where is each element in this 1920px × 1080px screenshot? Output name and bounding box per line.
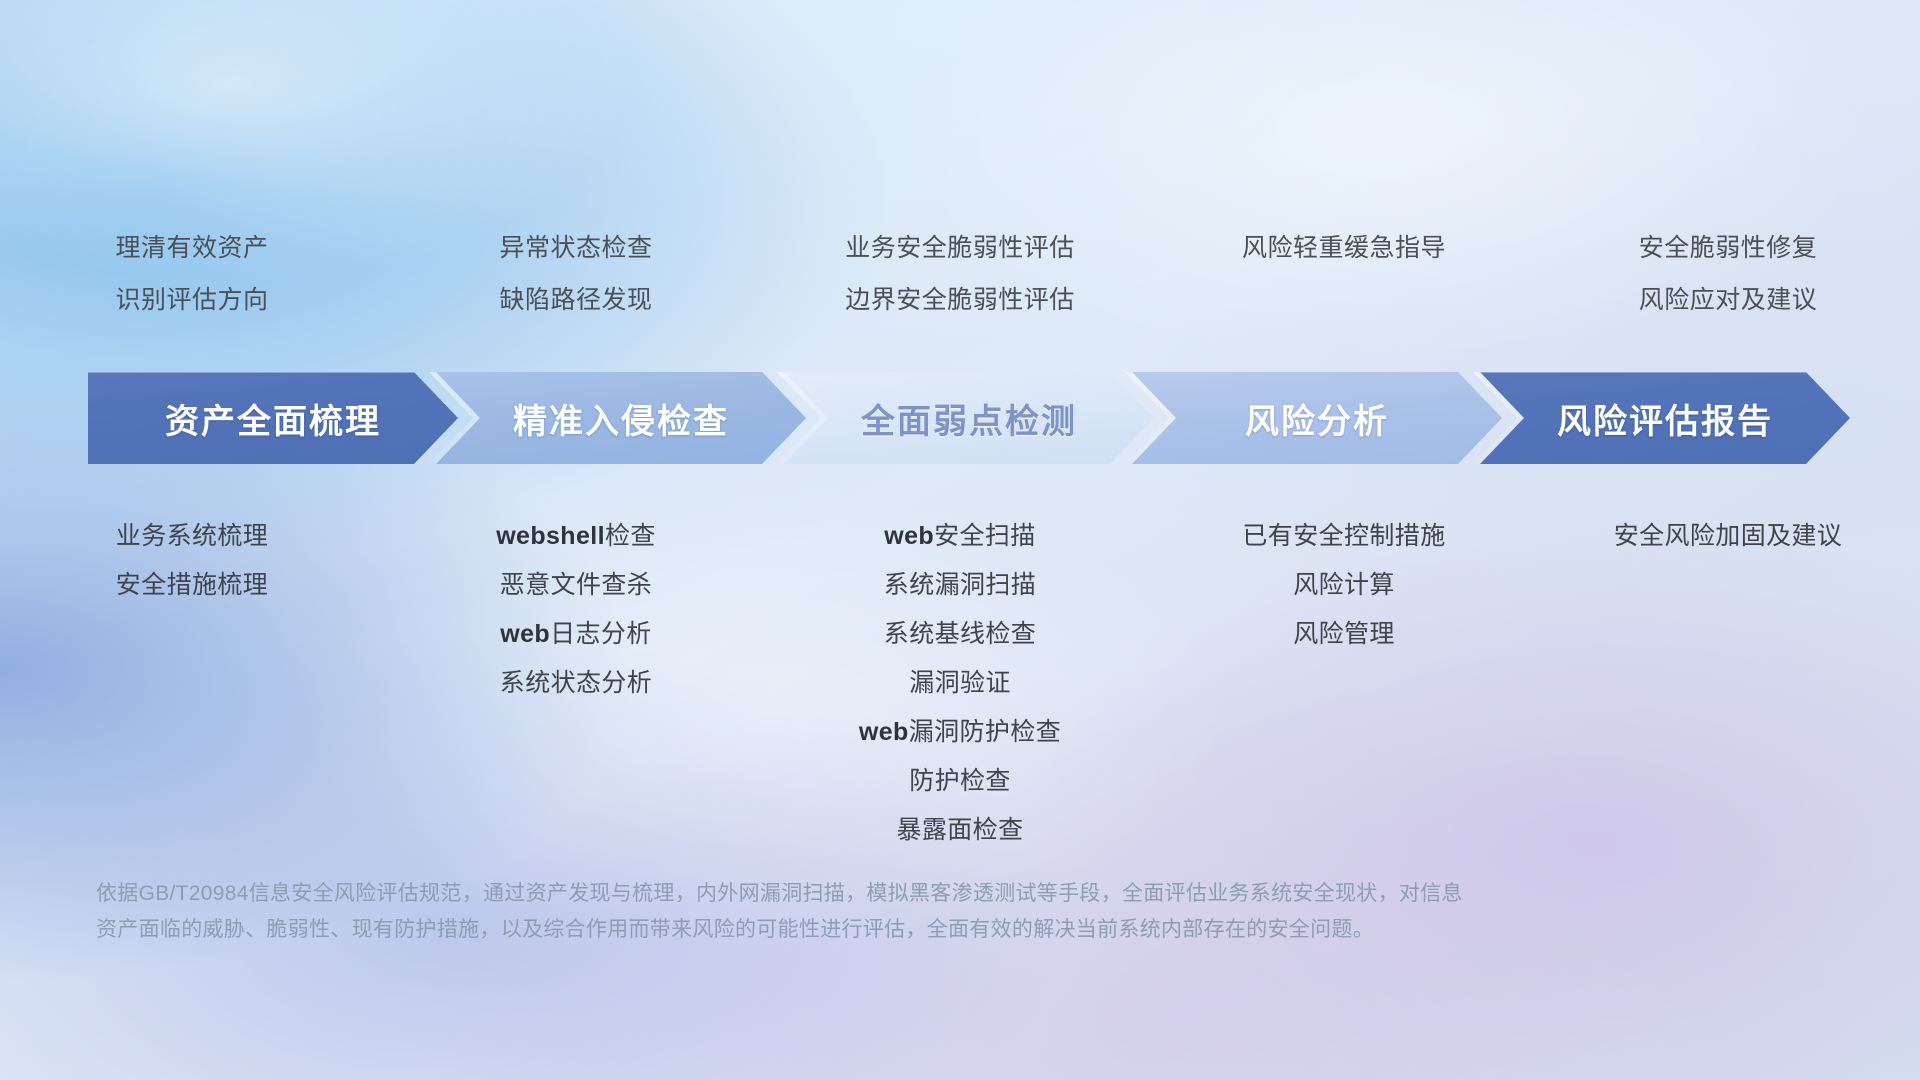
top-column-intrusion-check: 异常状态检查缺陷路径发现: [384, 222, 768, 326]
activity-item: 风险计算: [1160, 561, 1528, 610]
stage-label: 风险分析: [1245, 394, 1389, 443]
activity-item: 防护检查: [776, 757, 1144, 806]
activity-item: 安全措施梳理: [8, 561, 376, 610]
activity-item: 系统漏洞扫描: [776, 561, 1144, 610]
top-column-asset-inventory: 理清有效资产识别评估方向: [0, 222, 384, 326]
stage-chevron-risk-analysis[interactable]: 风险分析: [1132, 372, 1502, 464]
stage-chevron-weakness-detection[interactable]: 全面弱点检测: [784, 372, 1154, 464]
top-item: 安全脆弱性修复: [1546, 222, 1910, 274]
top-item: 异常状态检查: [394, 222, 758, 274]
stage-label: 精准入侵检查: [513, 394, 729, 443]
activity-item: webshell检查: [392, 512, 760, 561]
bottom-column-risk-report: 安全风险加固及建议: [1536, 512, 1920, 855]
activity-item-text: 检查: [605, 522, 656, 550]
activity-item: 业务系统梳理: [8, 512, 376, 561]
bottom-column-asset-inventory: 业务系统梳理安全措施梳理: [0, 512, 384, 855]
activity-item: 系统基线检查: [776, 610, 1144, 659]
bottom-column-intrusion-check: webshell检查恶意文件查杀web日志分析系统状态分析: [384, 512, 768, 855]
stage-chevron-risk-report[interactable]: 风险评估报告: [1480, 372, 1850, 464]
activity-item-text: 安全扫描: [934, 522, 1036, 550]
activity-item: 暴露面检查: [776, 806, 1144, 855]
top-column-risk-report: 安全脆弱性修复风险应对及建议: [1536, 222, 1920, 326]
activity-item-prefix: web: [884, 522, 934, 550]
activity-item: web漏洞防护检查: [776, 708, 1144, 757]
top-item: 业务安全脆弱性评估: [778, 222, 1142, 274]
bottom-column-weakness-detection: web安全扫描系统漏洞扫描系统基线检查漏洞验证web漏洞防护检查防护检查暴露面检…: [768, 512, 1152, 855]
activity-item: 系统状态分析: [392, 659, 760, 708]
bottom-column-risk-analysis: 已有安全控制措施风险计算风险管理: [1152, 512, 1536, 855]
activity-item-prefix: webshell: [496, 522, 605, 550]
activity-item: 已有安全控制措施: [1160, 512, 1528, 561]
activity-item-prefix: web: [500, 620, 550, 648]
activity-item: web日志分析: [392, 610, 760, 659]
top-column-risk-analysis: 风险轻重缓急指导: [1152, 222, 1536, 326]
stage-label: 全面弱点检测: [861, 394, 1077, 443]
stage-label: 风险评估报告: [1557, 394, 1773, 443]
activity-item-text: 日志分析: [550, 620, 652, 648]
footer-line-1: 依据GB/T20984信息安全风险评估规范，通过资产发现与梳理，内外网漏洞扫描，…: [96, 876, 1736, 912]
stage-chevron-asset-inventory[interactable]: 资产全面梳理: [88, 372, 458, 464]
activity-item: web安全扫描: [776, 512, 1144, 561]
activity-item: 安全风险加固及建议: [1544, 512, 1912, 561]
activity-item-text: 漏洞防护检查: [909, 718, 1061, 746]
top-item: 识别评估方向: [10, 274, 374, 326]
footer-line-2: 资产面临的威胁、脆弱性、现有防护措施，以及综合作用而带来风险的可能性进行评估，全…: [96, 912, 1736, 948]
top-item: 风险应对及建议: [1546, 274, 1910, 326]
bottom-activities-row: 业务系统梳理安全措施梳理webshell检查恶意文件查杀web日志分析系统状态分…: [0, 512, 1920, 855]
top-column-weakness-detection: 业务安全脆弱性评估边界安全脆弱性评估: [768, 222, 1152, 326]
activity-item-prefix: web: [859, 718, 909, 746]
top-item: 理清有效资产: [10, 222, 374, 274]
activity-item: 恶意文件查杀: [392, 561, 760, 610]
process-stage-band: 资产全面梳理精准入侵检查全面弱点检测风险分析风险评估报告: [88, 372, 1850, 464]
top-item: 风险轻重缓急指导: [1162, 222, 1526, 274]
activity-item: 风险管理: [1160, 610, 1528, 659]
top-item: 边界安全脆弱性评估: [778, 274, 1142, 326]
top-item: 缺陷路径发现: [394, 274, 758, 326]
stage-chevron-intrusion-check[interactable]: 精准入侵检查: [436, 372, 806, 464]
stage-label: 资产全面梳理: [165, 394, 381, 443]
activity-item: 漏洞验证: [776, 659, 1144, 708]
process-diagram: 理清有效资产识别评估方向异常状态检查缺陷路径发现业务安全脆弱性评估边界安全脆弱性…: [0, 0, 1920, 1080]
top-outcomes-row: 理清有效资产识别评估方向异常状态检查缺陷路径发现业务安全脆弱性评估边界安全脆弱性…: [0, 222, 1920, 326]
footer-description: 依据GB/T20984信息安全风险评估规范，通过资产发现与梳理，内外网漏洞扫描，…: [96, 876, 1736, 948]
